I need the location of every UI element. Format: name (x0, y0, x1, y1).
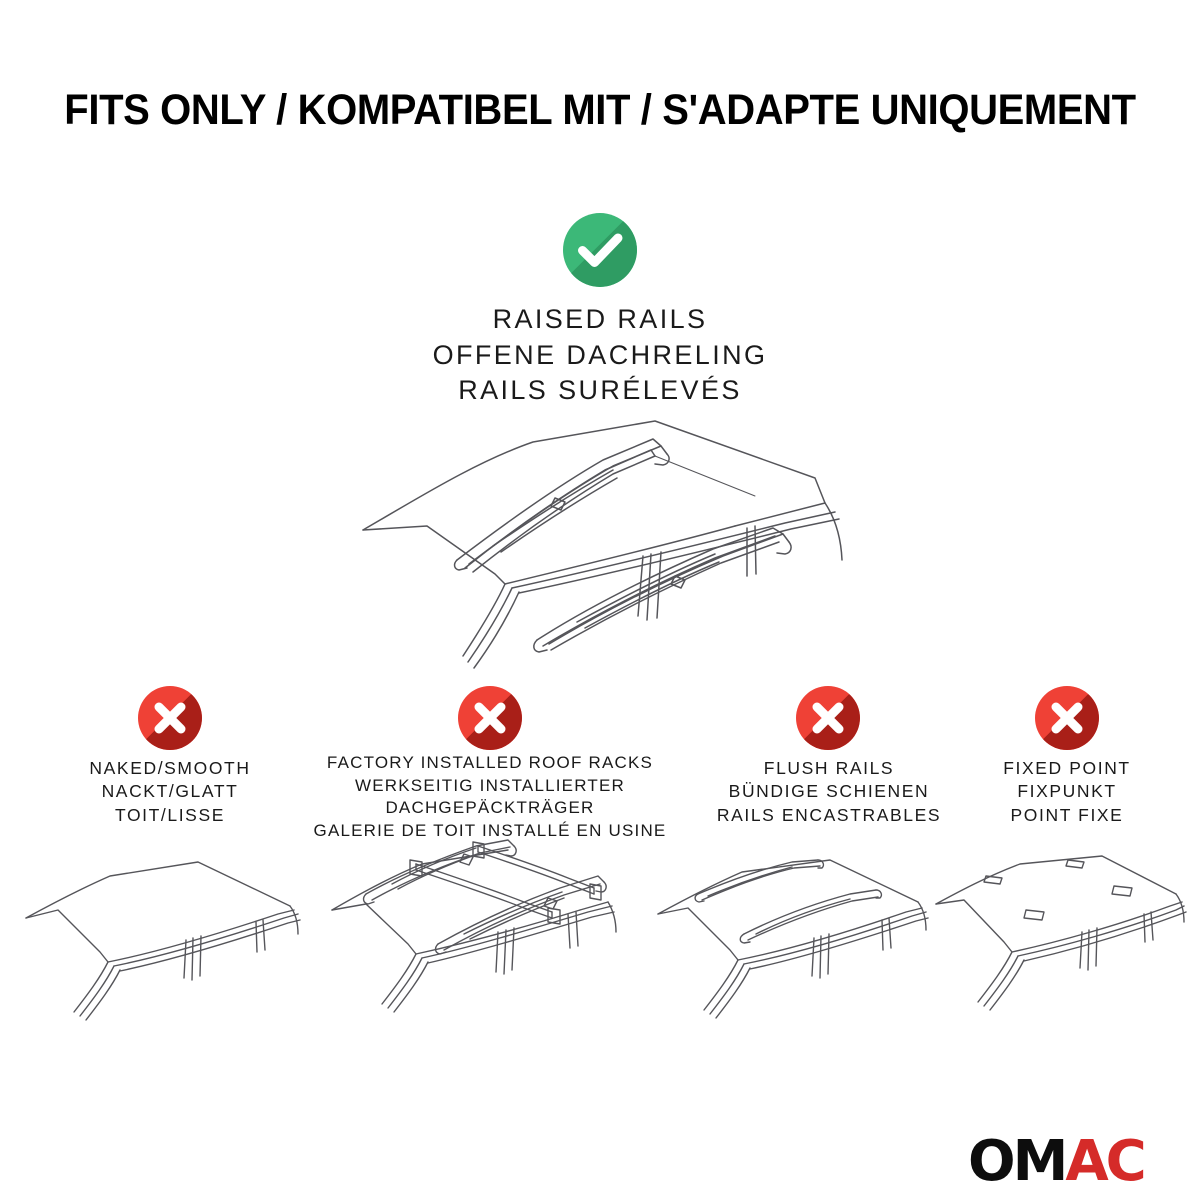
check-mark-glyph (563, 213, 637, 287)
caption-line: RAILS ENCASTRABLES (684, 804, 974, 827)
roof-sketch-flush-rails (650, 848, 950, 1023)
logo-text-red: AC (1065, 1129, 1143, 1194)
x-circle-icon (796, 686, 860, 750)
compatible-caption: RAISED RAILS OFFENE DACHRELING RAILS SUR… (0, 302, 1200, 409)
caption-line: FIXED POINT (952, 757, 1182, 780)
roof-sketch-raised-rails (355, 408, 855, 678)
caption-line: DACHGEPÄCKTRÄGER (300, 797, 680, 820)
caption-line: NAKED/SMOOTH (40, 757, 300, 780)
caption-line: FACTORY INSTALLED ROOF RACKS (300, 752, 680, 775)
x-mark-glyph (458, 686, 522, 750)
x-circle-icon (138, 686, 202, 750)
caption-line: OFFENE DACHRELING (0, 338, 1200, 374)
x-mark-glyph (1035, 686, 1099, 750)
car-roof-fixed-point-illustration (930, 848, 1200, 1023)
roof-sketch-naked-smooth (18, 848, 318, 1023)
caption-line: TOIT/LISSE (40, 804, 300, 827)
car-roof-raised-rails-illustration (355, 408, 855, 678)
caption-line: FIXPUNKT (952, 780, 1182, 803)
caption-line: POINT FIXE (952, 804, 1182, 827)
check-circle-icon (563, 213, 637, 287)
page-title: FITS ONLY / KOMPATIBEL MIT / S'ADAPTE UN… (42, 86, 1158, 135)
roof-sketch-fixed-point (930, 848, 1200, 1023)
caption-line: RAISED RAILS (0, 302, 1200, 338)
omac-logo: OMAC (968, 1134, 1144, 1190)
incompatible-caption-factory-racks: FACTORY INSTALLED ROOF RACKS WERKSEITIG … (300, 752, 680, 842)
x-mark-glyph (138, 686, 202, 750)
caption-line: RAILS SURÉLEVÉS (0, 373, 1200, 409)
caption-line: FLUSH RAILS (684, 757, 974, 780)
x-circle-icon (1035, 686, 1099, 750)
car-roof-flush-rails-illustration (650, 848, 950, 1023)
roof-sketch-factory-racks (312, 832, 660, 1022)
x-circle-icon (458, 686, 522, 750)
caption-line: WERKSEITIG INSTALLIERTER (300, 775, 680, 798)
incompatible-caption-naked-smooth: NAKED/SMOOTH NACKT/GLATT TOIT/LISSE (40, 757, 300, 827)
car-roof-naked-smooth-illustration (18, 848, 318, 1023)
infographic-canvas: FITS ONLY / KOMPATIBEL MIT / S'ADAPTE UN… (0, 0, 1200, 1200)
car-roof-factory-roof-racks-illustration (312, 832, 660, 1022)
caption-line: BÜNDIGE SCHIENEN (684, 780, 974, 803)
x-mark-glyph (796, 686, 860, 750)
incompatible-caption-flush-rails: FLUSH RAILS BÜNDIGE SCHIENEN RAILS ENCAS… (684, 757, 974, 827)
logo-text-dark: OM (968, 1129, 1065, 1194)
incompatible-caption-fixed-point: FIXED POINT FIXPUNKT POINT FIXE (952, 757, 1182, 827)
caption-line: NACKT/GLATT (40, 780, 300, 803)
